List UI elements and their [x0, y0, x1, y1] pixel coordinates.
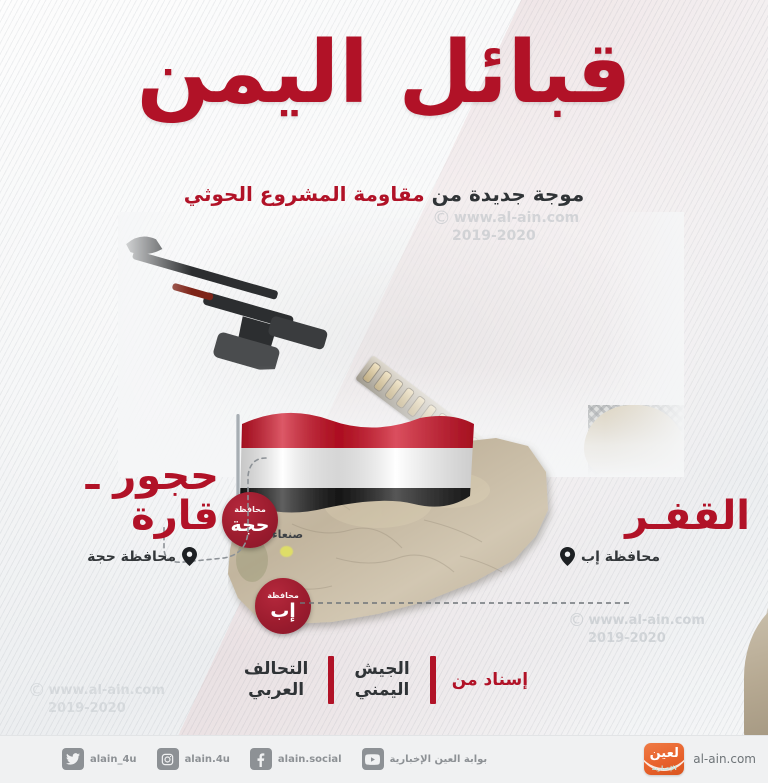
social-facebook-handle: alain.social	[278, 754, 342, 765]
watermark-site: www.al-ain.com	[589, 613, 705, 628]
support-row-divider	[430, 656, 436, 704]
support-row: إسناد من الجيشاليمني التحالفالعربي	[0, 648, 768, 712]
page-title: قبائل اليمن	[0, 24, 768, 123]
map-pin-icon	[182, 547, 197, 566]
watermark-years: 2019-2020	[588, 631, 666, 646]
label-alqafr-title: القفـر	[560, 496, 750, 536]
al-ain-logo[interactable]: لعين الإخبارية	[644, 743, 684, 775]
social-youtube-handle: بوابة العين الإخبارية	[390, 754, 488, 765]
social-instagram-handle: alain.4u	[185, 754, 230, 765]
social-links: alain_4u alain.4u alain.social بوابة الع…	[0, 735, 487, 783]
youtube-icon	[362, 748, 384, 770]
badge-ibb-name: إب	[270, 602, 296, 621]
social-facebook[interactable]: alain.social	[250, 748, 342, 770]
capital-label: صنعاء	[272, 528, 303, 541]
social-youtube[interactable]: بوابة العين الإخبارية	[362, 748, 488, 770]
support-row-item-arab-coalition: التحالفالعربي	[224, 659, 328, 702]
social-instagram[interactable]: alain.4u	[157, 748, 230, 770]
label-hajour-qarah-title: حجور ـ قارة	[14, 456, 219, 536]
brand-footer[interactable]: al-ain.com لعين الإخبارية	[644, 735, 756, 783]
watermark-copyright-icon: ©	[568, 611, 586, 631]
connector-line-ibb	[300, 596, 630, 610]
logo-name: لعين	[644, 747, 684, 760]
capital-marker-dot	[280, 546, 293, 557]
twitter-icon	[62, 748, 84, 770]
brand-domain: al-ain.com	[693, 752, 756, 766]
instagram-icon	[157, 748, 179, 770]
support-row-prefix: إسناد من	[436, 670, 544, 690]
label-hajour-qarah-governorate: محافظة حجة	[87, 549, 176, 565]
facebook-icon	[250, 748, 272, 770]
logo-tagline: الإخبارية	[644, 766, 684, 772]
label-alqafr-governorate: محافظة إب	[581, 549, 660, 565]
label-hajour-qarah-sub: محافظة حجة	[14, 547, 219, 566]
label-alqafr-sub: محافظة إب	[560, 547, 750, 566]
support-row-item-yemeni-army: الجيشاليمني	[334, 659, 429, 702]
label-alqafr: القفـر محافظة إب	[560, 496, 750, 566]
watermark-middle: ©www.al-ain.com 2019-2020	[568, 612, 705, 646]
support-row-divider	[328, 656, 334, 704]
label-hajour-qarah: حجور ـ قارة محافظة حجة	[14, 456, 219, 566]
badge-ibb-prefix: محافظة	[267, 592, 299, 600]
infographic-poster: قبائل اليمن موجة جديدة من مقاومة المشروع…	[0, 0, 768, 783]
map-pin-icon	[560, 547, 575, 566]
social-twitter-handle: alain_4u	[90, 754, 137, 765]
social-twitter[interactable]: alain_4u	[62, 748, 137, 770]
